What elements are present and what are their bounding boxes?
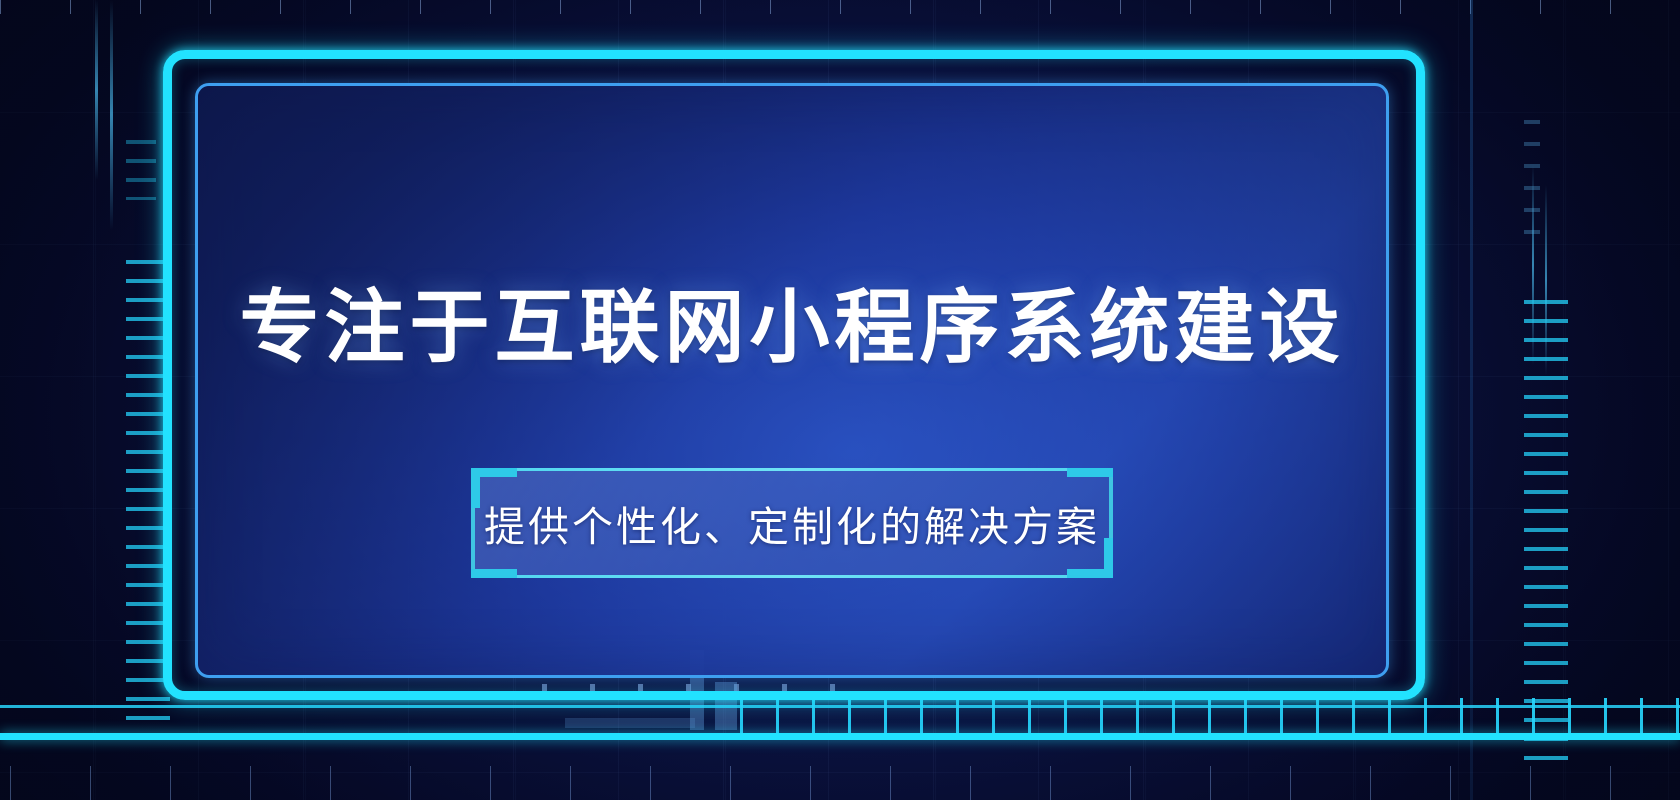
- decor-hline-lower: [0, 733, 1680, 740]
- hero-banner: 专注于互联网小程序系统建设 提供个性化、定制化的解决方案: [0, 0, 1680, 800]
- ruler-ticks: [740, 698, 1680, 734]
- panel-sheen: [198, 86, 1386, 675]
- subtitle-bracket-box: 提供个性化、定制化的解决方案: [471, 468, 1113, 578]
- accent-line-left-2: [110, 0, 113, 230]
- accent-line-right-long: [1470, 0, 1473, 800]
- page-title: 专注于互联网小程序系统建设: [198, 284, 1386, 372]
- top-tick-marks: [0, 0, 1680, 14]
- tick-ladder-right-small: [1524, 120, 1540, 240]
- page-subtitle: 提供个性化、定制化的解决方案: [471, 468, 1113, 578]
- decor-hline-upper: [0, 705, 1680, 708]
- bottom-tick-marks: [0, 766, 1680, 800]
- content-panel: 专注于互联网小程序系统建设 提供个性化、定制化的解决方案: [195, 83, 1389, 678]
- decor-bar-flat: [565, 718, 695, 728]
- tick-ladder-left-small: [126, 140, 156, 200]
- accent-line-left-1: [95, 0, 98, 180]
